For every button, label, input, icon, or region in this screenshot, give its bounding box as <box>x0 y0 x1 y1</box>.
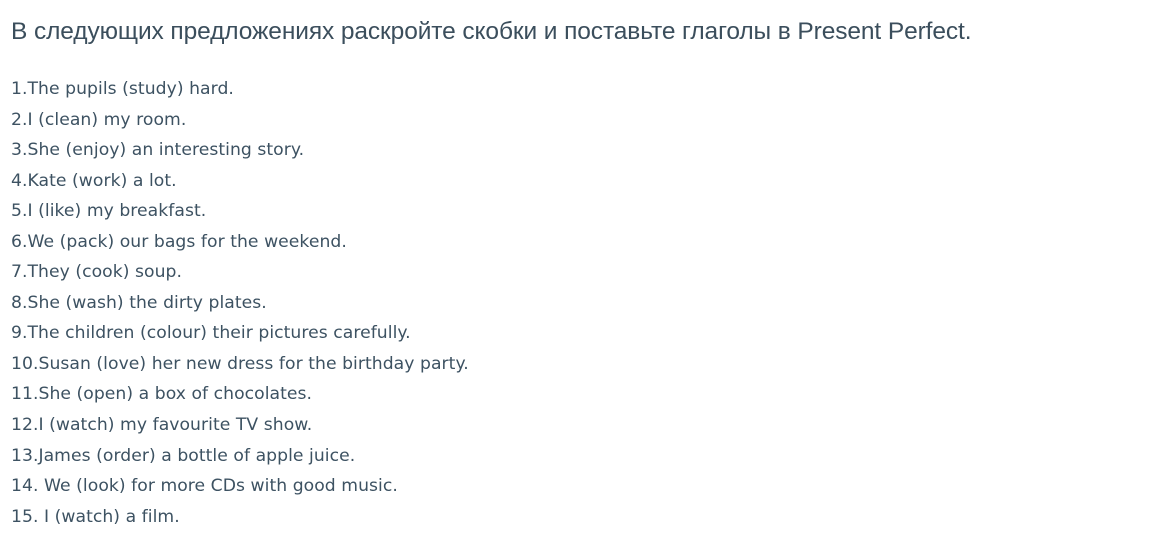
list-item: 7.They (cook) soup. <box>11 257 1111 288</box>
list-item: 4.Kate (work) a lot. <box>11 166 1111 197</box>
page-title: В следующих предложениях раскройте скобк… <box>11 17 971 47</box>
list-item: 8.She (wash) the dirty plates. <box>11 288 1111 319</box>
exercise-page: В следующих предложениях раскройте скобк… <box>0 0 1151 551</box>
list-item: 14. We (look) for more CDs with good mus… <box>11 471 1111 502</box>
list-item: 10.Susan (love) her new dress for the bi… <box>11 349 1111 380</box>
exercise-sentence-list: 1.The pupils (study) hard. 2.I (clean) m… <box>11 74 1111 532</box>
list-item: 3.She (enjoy) an interesting story. <box>11 135 1111 166</box>
list-item: 5.I (like) my breakfast. <box>11 196 1111 227</box>
list-item: 12.I (watch) my favourite TV show. <box>11 410 1111 441</box>
list-item: 15. I (watch) a film. <box>11 502 1111 533</box>
list-item: 2.I (clean) my room. <box>11 105 1111 136</box>
list-item: 1.The pupils (study) hard. <box>11 74 1111 105</box>
list-item: 13.James (order) a bottle of apple juice… <box>11 441 1111 472</box>
list-item: 11.She (open) a box of chocolates. <box>11 379 1111 410</box>
list-item: 6.We (pack) our bags for the weekend. <box>11 227 1111 258</box>
list-item: 9.The children (colour) their pictures c… <box>11 318 1111 349</box>
